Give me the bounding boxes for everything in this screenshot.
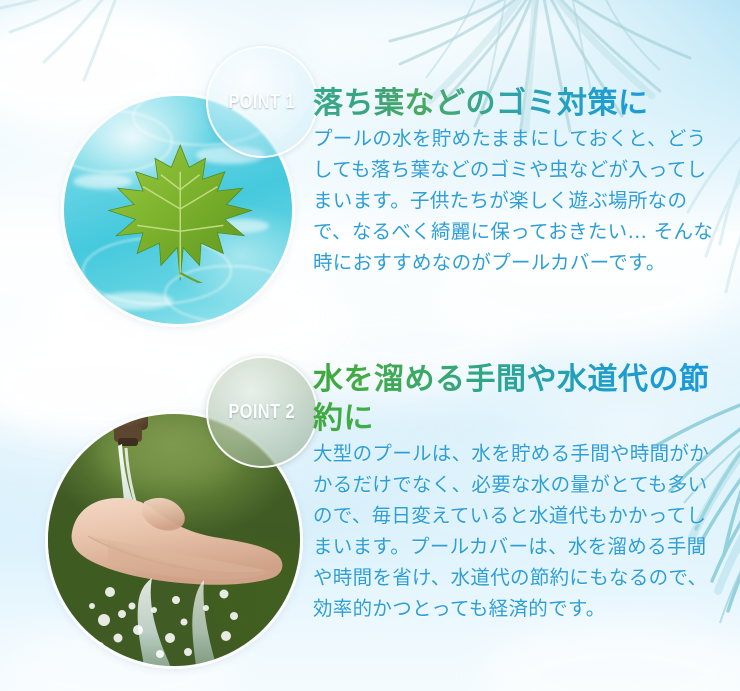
point-2-headline: 水を溜める手間や水道代の節約に [313,360,725,438]
point-2-body: 大型のプールは、水を貯める手間や時間がかかるだけでなく、必要な水の量がとても多い… [313,438,725,624]
point-1-text-block: 落ち葉などのゴミ対策に プールの水を貯めたままにしておくと、どうしても落ち葉など… [313,84,725,278]
point-1-headline: 落ち葉などのゴミ対策に [313,84,725,123]
maple-leaf-icon [105,142,255,283]
marketing-page: POINT 1 [0,0,740,691]
point-1-badge: POINT 1 [206,46,318,158]
point-2-badge-label: POINT 2 [229,401,296,424]
point-1-badge-label: POINT 1 [229,91,296,114]
point-1-body: プールの水を貯めたままにしておくと、どうしても落ち葉などのゴミや虫などが入ってし… [313,123,725,278]
cloud-decoration [300,0,500,80]
point-2-text-block: 水を溜める手間や水道代の節約に 大型のプールは、水を貯める手間や時間がかかるだけ… [313,360,725,624]
point-2-badge: POINT 2 [206,356,318,468]
